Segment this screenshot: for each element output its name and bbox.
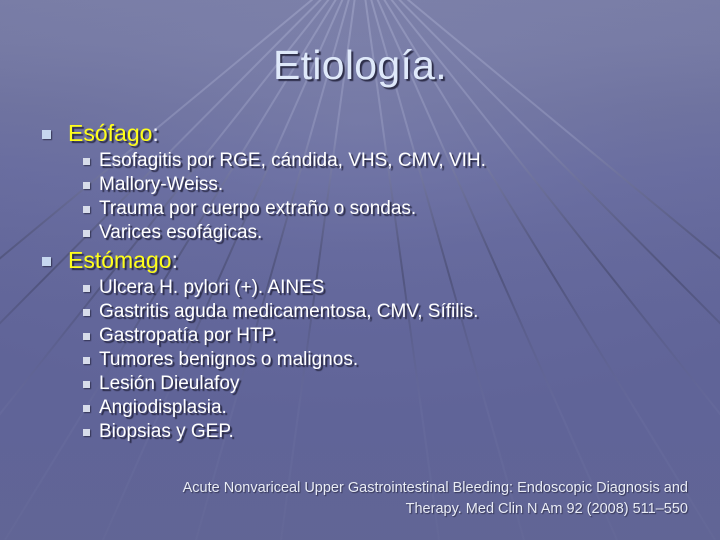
bullet-level1-colon: : <box>172 247 178 273</box>
square-bullet-icon <box>83 182 90 189</box>
bullet-level2-label: Varices esofágicas. <box>99 222 262 243</box>
square-bullet-icon <box>83 405 90 412</box>
square-bullet-icon <box>83 333 90 340</box>
bullet-level2-item: Biopsias y GEP. <box>0 420 720 444</box>
bullet-level2-label: Gastropatía por HTP. <box>99 325 277 346</box>
square-bullet-icon <box>83 158 90 165</box>
square-bullet-icon <box>83 285 90 292</box>
bullet-level2-label: Ulcera H. pylori (+). AINES <box>99 277 324 298</box>
bullet-level2-item: Trauma por cuerpo extraño o sondas. <box>0 197 720 221</box>
square-bullet-icon <box>83 429 90 436</box>
bullet-level2-label: Trauma por cuerpo extraño o sondas. <box>99 198 416 219</box>
bullet-level2-item: Varices esofágicas. <box>0 221 720 245</box>
square-bullet-icon <box>83 230 90 237</box>
bullet-level2-label: Lesión Dieulafoy <box>99 373 239 394</box>
slide-footer-citation: Acute Nonvariceal Upper Gastrointestinal… <box>118 478 688 520</box>
square-bullet-icon <box>83 206 90 213</box>
slide-body: Esófago: Esofagitis por RGE, cándida, VH… <box>0 118 720 444</box>
bullet-level2-item: Gastritis aguda medicamentosa, CMV, Sífi… <box>0 300 720 324</box>
bullet-level2-item: Tumores benignos o malignos. <box>0 348 720 372</box>
bullet-level2-label: Esofagitis por RGE, cándida, VHS, CMV, V… <box>99 150 486 171</box>
bullet-level1-esofago: Esófago: <box>0 118 720 149</box>
citation-line-1: Acute Nonvariceal Upper Gastrointestinal… <box>118 478 688 499</box>
bullet-level1-label: Estómago <box>68 247 172 273</box>
square-bullet-icon <box>83 309 90 316</box>
bullet-level2-item: Angiodisplasia. <box>0 396 720 420</box>
bullet-level2-item: Esofagitis por RGE, cándida, VHS, CMV, V… <box>0 149 720 173</box>
presentation-slide: Etiología. Esófago: Esofagitis por RGE, … <box>0 0 720 540</box>
bullet-level2-item: Gastropatía por HTP. <box>0 324 720 348</box>
square-bullet-icon <box>83 357 90 364</box>
bullet-level1-estomago: Estómago: <box>0 245 720 276</box>
bullet-level2-label: Mallory-Weiss. <box>99 174 223 195</box>
bullet-level1-label: Esófago <box>68 120 152 146</box>
bullet-level2-label: Tumores benignos o malignos. <box>99 349 358 370</box>
square-bullet-icon <box>83 381 90 388</box>
bullet-level2-item: Mallory-Weiss. <box>0 173 720 197</box>
bullet-level2-item: Ulcera H. pylori (+). AINES <box>0 276 720 300</box>
bullet-level2-label: Angiodisplasia. <box>99 397 227 418</box>
bullet-level1-colon: : <box>152 120 158 146</box>
slide-title: Etiología. <box>0 40 720 90</box>
bullet-level2-label: Biopsias y GEP. <box>99 421 234 442</box>
square-bullet-icon <box>42 130 51 139</box>
square-bullet-icon <box>42 257 51 266</box>
citation-line-2: Therapy. Med Clin N Am 92 (2008) 511–550 <box>118 499 688 520</box>
bullet-level2-label: Gastritis aguda medicamentosa, CMV, Sífi… <box>99 301 478 322</box>
bullet-level2-item: Lesión Dieulafoy <box>0 372 720 396</box>
